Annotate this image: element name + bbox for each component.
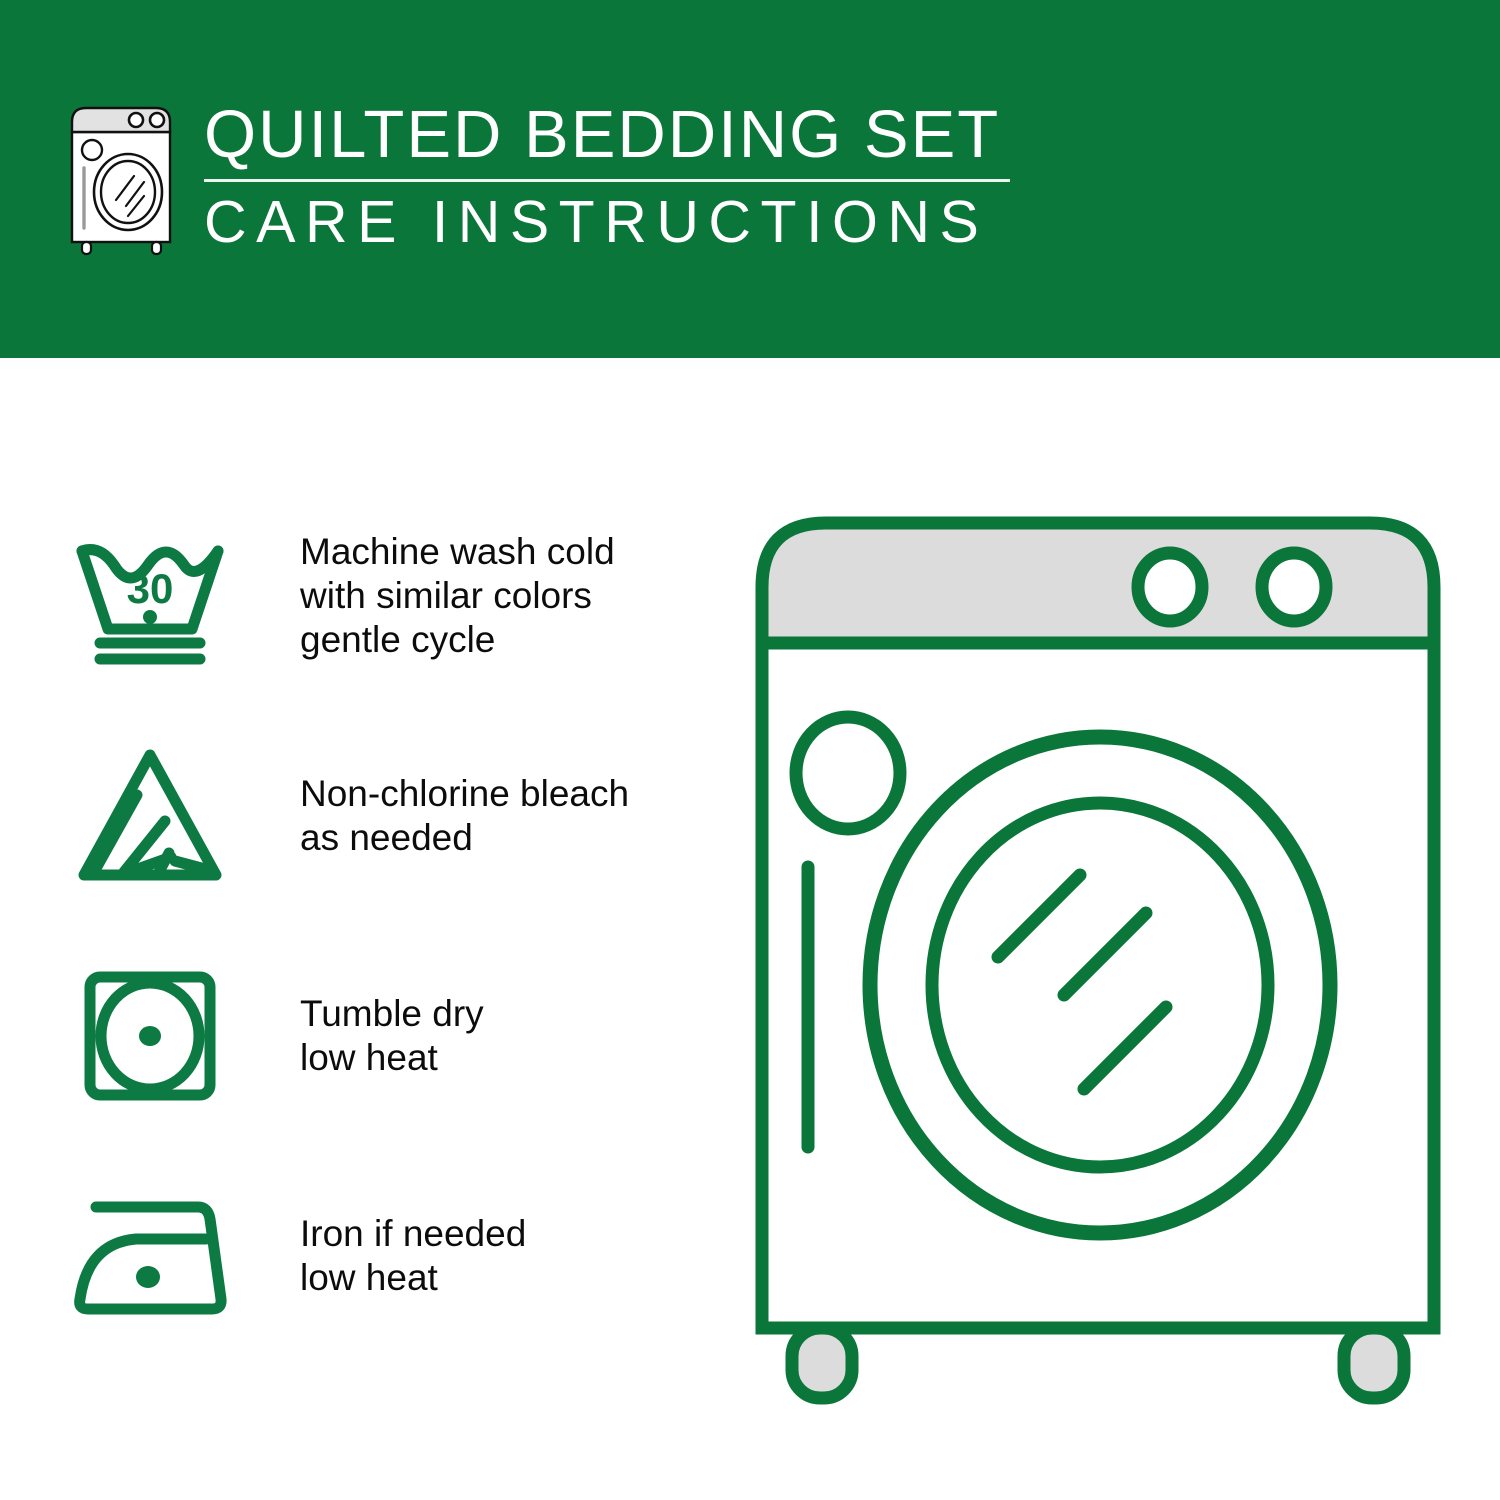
care-line: low heat [300, 1036, 710, 1080]
care-text-bleach: Non-chlorine bleach as needed [238, 772, 710, 860]
page-title: QUILTED BEDDING SET [204, 96, 1022, 174]
tumble-dry-low-icon [70, 961, 238, 1111]
care-line: gentle cycle [300, 618, 710, 662]
care-text-tumble-dry: Tumble dry low heat [238, 992, 710, 1080]
title-divider [204, 179, 1010, 182]
care-line: with similar colors [300, 574, 710, 618]
header-band: QUILTED BEDDING SET CARE INSTRUCTIONS [0, 0, 1500, 358]
care-row-tumble-dry: Tumble dry low heat [70, 945, 710, 1127]
care-line: low heat [300, 1256, 710, 1300]
header-text-block: QUILTED BEDDING SET CARE INSTRUCTIONS [204, 96, 1022, 256]
care-text-machine-wash: Machine wash cold with similar colors ge… [238, 530, 710, 662]
care-text-iron: Iron if needed low heat [238, 1212, 710, 1300]
washing-machine-illustration [748, 495, 1448, 1425]
care-row-machine-wash: 30 Machine wash cold with similar colors… [70, 505, 710, 687]
page-subtitle: CARE INSTRUCTIONS [204, 188, 1022, 256]
wash-temperature-label: 30 [127, 565, 174, 612]
care-line: Iron if needed [300, 1212, 710, 1256]
care-row-bleach: Non-chlorine bleach as needed [70, 725, 710, 907]
care-line: Tumble dry [300, 992, 710, 1036]
iron-low-heat-icon [70, 1181, 238, 1331]
care-line: as needed [300, 816, 710, 860]
bleach-triangle-icon [70, 741, 238, 891]
care-line: Machine wash cold [300, 530, 710, 574]
care-instructions-list: 30 Machine wash cold with similar colors… [70, 505, 710, 1347]
header-content: QUILTED BEDDING SET CARE INSTRUCTIONS [62, 96, 1022, 276]
care-row-iron: Iron if needed low heat [70, 1165, 710, 1347]
care-line: Non-chlorine bleach [300, 772, 710, 816]
washing-machine-icon [62, 100, 184, 260]
wash-basin-30-icon: 30 [70, 521, 238, 671]
